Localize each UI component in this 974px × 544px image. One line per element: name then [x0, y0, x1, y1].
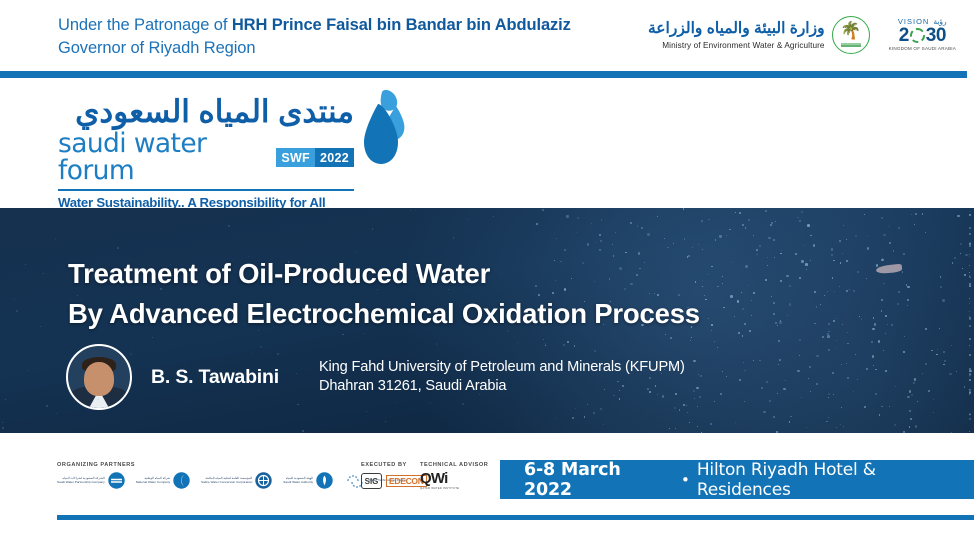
event-date-banner: 6-8 March 2022 • Hilton Riyadh Hotel & R…	[500, 460, 974, 499]
bubble-speck-icon	[624, 288, 626, 290]
bubble-speck-icon	[873, 365, 874, 366]
slide-title-line1: Treatment of Oil-Produced Water	[68, 254, 868, 294]
bubble-speck-icon	[688, 255, 690, 257]
bubble-speck-icon	[872, 355, 875, 358]
bubble-speck-icon	[891, 324, 893, 326]
bubble-speck-icon	[690, 310, 692, 312]
bubble-speck-icon	[705, 299, 707, 301]
bubble-speck-icon	[969, 370, 972, 373]
bubble-speck-icon	[836, 427, 837, 428]
bubble-speck-icon	[701, 220, 703, 222]
bubble-speck-icon	[969, 283, 971, 285]
forum-name-row: saudi water forum SWF 2022	[58, 131, 354, 184]
bubble-speck-icon	[875, 369, 877, 371]
bubble-speck-icon	[925, 232, 926, 233]
bubble-speck-icon	[753, 235, 754, 236]
bubble-speck-icon	[780, 253, 781, 254]
bubble-speck-icon	[969, 376, 970, 377]
bubble-speck-icon	[915, 213, 917, 215]
bubble-speck-icon	[698, 374, 699, 375]
bubble-speck-icon	[466, 398, 467, 399]
author-affiliation: King Fahd University of Petroleum and Mi…	[319, 358, 685, 397]
bubble-speck-icon	[904, 336, 905, 337]
bubble-speck-icon	[601, 219, 603, 221]
bubble-speck-icon	[964, 274, 966, 276]
vision-2030-logo: VISION رؤية 2 30 KINGDOM OF SAUDI ARABIA	[889, 18, 956, 51]
bubble-speck-icon	[16, 310, 18, 312]
sig-logo: SIG	[361, 473, 382, 489]
bubble-speck-icon	[883, 283, 885, 285]
bubble-speck-icon	[683, 208, 685, 210]
bubble-speck-icon	[922, 213, 924, 215]
bubble-speck-icon	[939, 328, 940, 329]
technical-advisor-logo: QWi QATAR WATER INSTITUTE	[420, 471, 459, 490]
bubble-speck-icon	[957, 215, 959, 217]
bubble-speck-icon	[619, 267, 622, 270]
bubble-speck-icon	[657, 216, 658, 217]
bubble-speck-icon	[897, 303, 899, 305]
bubble-speck-icon	[542, 209, 544, 211]
bubble-speck-icon	[689, 422, 690, 423]
bubble-speck-icon	[909, 410, 911, 412]
bubble-speck-icon	[969, 379, 971, 381]
bubble-speck-icon	[696, 387, 698, 389]
header-divider	[0, 71, 967, 78]
bubble-speck-icon	[638, 222, 639, 223]
bubble-speck-icon	[808, 378, 810, 380]
bubble-speck-icon	[827, 335, 830, 338]
bubble-speck-icon	[574, 345, 576, 347]
bubble-speck-icon	[765, 210, 767, 212]
bubble-speck-icon	[571, 278, 572, 279]
bubble-speck-icon	[960, 253, 961, 254]
affiliation-line2: Dhahran 31261, Saudi Arabia	[319, 377, 685, 396]
bubble-speck-icon	[933, 412, 934, 413]
bubble-speck-icon	[186, 401, 187, 402]
bubble-speck-icon	[702, 249, 703, 250]
bubble-speck-icon	[637, 225, 639, 227]
palm-tree-icon: 🌴	[840, 22, 861, 39]
bubble-speck-icon	[969, 374, 971, 376]
bubble-speck-icon	[270, 306, 272, 308]
partner-logo-2: المؤسسة العامة لتحلية المياه المالحة Sal…	[201, 472, 272, 489]
bubble-speck-icon	[810, 391, 811, 392]
bubble-speck-icon	[517, 343, 518, 344]
bubble-speck-icon	[377, 289, 378, 290]
vision-year-left: 2	[899, 26, 909, 45]
bubble-speck-icon	[77, 295, 78, 296]
bubble-speck-icon	[342, 334, 344, 336]
bubble-speck-icon	[667, 247, 669, 249]
bubble-speck-icon	[297, 404, 299, 406]
bubble-speck-icon	[969, 394, 970, 395]
bubble-speck-icon	[828, 397, 829, 398]
bubble-speck-icon	[801, 260, 803, 262]
bubble-speck-icon	[911, 214, 912, 215]
bubble-speck-icon	[43, 273, 44, 274]
partner-logo-0-text: الشركة السعودية لشراكات المياه Saudi Wat…	[57, 477, 105, 485]
bubble-speck-icon	[882, 258, 883, 259]
bubble-speck-icon	[576, 232, 578, 234]
bubble-speck-icon	[871, 341, 873, 343]
bubble-speck-icon	[847, 343, 849, 345]
swf-badge-left: SWF	[276, 148, 315, 167]
bubble-speck-icon	[97, 398, 99, 400]
bubble-speck-icon	[801, 211, 803, 213]
avatar-face	[84, 362, 114, 396]
bubble-speck-icon	[779, 321, 782, 324]
bubble-speck-icon	[767, 265, 768, 266]
bubble-speck-icon	[690, 340, 691, 341]
bubble-speck-icon	[831, 248, 834, 251]
bubble-speck-icon	[895, 386, 896, 387]
bubble-speck-icon	[742, 335, 743, 336]
bubble-speck-icon	[797, 370, 800, 373]
bubble-speck-icon	[723, 307, 725, 309]
bubble-speck-icon	[867, 247, 870, 250]
bubble-speck-icon	[933, 399, 934, 400]
bubble-speck-icon	[911, 394, 913, 396]
bubble-speck-icon	[943, 364, 945, 366]
bubble-speck-icon	[969, 311, 970, 312]
bubble-speck-icon	[875, 393, 877, 395]
bubble-speck-icon	[28, 370, 29, 371]
bubble-speck-icon	[739, 379, 741, 381]
partner-mark-1-icon	[173, 472, 190, 489]
bubble-speck-icon	[459, 382, 460, 383]
bubble-speck-icon	[40, 326, 41, 327]
bubble-speck-icon	[612, 244, 613, 245]
bubble-speck-icon	[641, 227, 643, 229]
bubble-speck-icon	[775, 221, 776, 222]
bubble-speck-icon	[836, 348, 837, 349]
event-venue: Hilton Riyadh Hotel & Residences	[697, 460, 974, 500]
bubble-speck-icon	[600, 240, 602, 242]
bubble-speck-icon	[867, 235, 868, 236]
bubble-speck-icon	[872, 328, 874, 330]
bubble-speck-icon	[841, 407, 842, 408]
bubble-speck-icon	[857, 379, 858, 380]
bubble-speck-icon	[630, 283, 632, 285]
bubble-speck-icon	[833, 394, 834, 395]
bubble-speck-icon	[735, 422, 736, 423]
qwi-logo: QWi	[420, 471, 447, 486]
bubble-speck-icon	[741, 292, 742, 293]
bubble-speck-icon	[669, 428, 670, 429]
bubble-speck-icon	[883, 350, 884, 351]
bubble-speck-icon	[969, 245, 971, 247]
bubble-speck-icon	[910, 418, 912, 420]
bubble-speck-icon	[673, 243, 674, 244]
bubble-speck-icon	[849, 289, 850, 290]
partner-logo-0-english: Saudi Water Partnership Company	[57, 481, 105, 485]
bubble-speck-icon	[744, 370, 746, 372]
bubble-speck-icon	[599, 249, 601, 251]
bubble-speck-icon	[479, 394, 480, 395]
bubble-speck-icon	[881, 299, 883, 301]
bubble-speck-icon	[956, 371, 957, 372]
bubble-speck-icon	[894, 424, 896, 426]
bubble-speck-icon	[610, 301, 611, 302]
bubble-speck-icon	[708, 219, 709, 220]
bubble-speck-icon	[462, 403, 464, 405]
bubble-speck-icon	[885, 315, 887, 317]
bubble-speck-icon	[965, 254, 968, 257]
bubble-speck-icon	[768, 237, 770, 239]
bubble-speck-icon	[735, 212, 737, 214]
bubble-speck-icon	[726, 235, 727, 236]
bubble-speck-icon	[591, 223, 592, 224]
patronage-line2: Governor of Riyadh Region	[58, 39, 255, 57]
bubble-speck-icon	[448, 289, 449, 290]
bubble-speck-icon	[662, 395, 665, 398]
bubble-speck-icon	[913, 382, 915, 384]
bubble-speck-icon	[903, 351, 905, 353]
bubble-speck-icon	[710, 423, 713, 426]
bubble-speck-icon	[753, 292, 755, 294]
bubble-speck-icon	[665, 334, 666, 335]
bubble-speck-icon	[117, 247, 119, 249]
ministry-name-english: Ministry of Environment Water & Agricult…	[648, 41, 825, 50]
bubble-speck-icon	[683, 404, 685, 406]
bubble-speck-icon	[130, 353, 132, 355]
bubble-speck-icon	[745, 227, 746, 228]
bubble-speck-icon	[5, 399, 6, 400]
saudi-water-forum-logo: منتدى المياه السعودي saudi water forum S…	[58, 96, 354, 210]
bubble-speck-icon	[769, 400, 771, 402]
bubble-speck-icon	[786, 275, 788, 277]
bubble-speck-icon	[468, 219, 469, 220]
slide-title: Treatment of Oil-Produced Water By Advan…	[68, 254, 868, 335]
bubble-speck-icon	[888, 226, 889, 227]
bubble-speck-icon	[46, 405, 48, 407]
bubble-speck-icon	[969, 392, 971, 394]
bubble-speck-icon	[864, 214, 865, 215]
bubble-speck-icon	[759, 245, 761, 247]
bubble-speck-icon	[661, 373, 662, 374]
partner-mark-2-icon	[255, 472, 272, 489]
patronage-line1-prefix: Under the Patronage of	[58, 16, 232, 34]
bubble-speck-icon	[599, 234, 601, 236]
partner-logo-2-english: Saline Water Conversion Corporation	[201, 481, 252, 485]
swf-badge-right: 2022	[315, 148, 354, 167]
bubble-speck-icon	[914, 378, 917, 381]
bubble-speck-icon	[691, 337, 692, 338]
bubble-speck-icon	[969, 227, 971, 229]
bubble-speck-icon	[907, 305, 908, 306]
bubble-speck-icon	[873, 317, 875, 319]
bubble-speck-icon	[555, 280, 556, 281]
bubble-speck-icon	[739, 212, 741, 214]
bubble-speck-icon	[556, 238, 557, 239]
bubble-speck-icon	[555, 418, 556, 419]
bubble-speck-icon	[909, 390, 911, 392]
bubble-speck-icon	[698, 244, 700, 246]
bubble-speck-icon	[248, 256, 249, 257]
bubble-speck-icon	[773, 302, 775, 304]
bubble-speck-icon	[577, 217, 579, 219]
bubble-speck-icon	[766, 381, 768, 383]
bubble-speck-icon	[763, 411, 765, 413]
bubble-speck-icon	[692, 247, 693, 248]
vision-year-right: 30	[926, 26, 946, 45]
bubble-speck-icon	[385, 421, 386, 422]
bubble-speck-icon	[799, 339, 801, 341]
bubble-speck-icon	[931, 350, 933, 352]
bubble-speck-icon	[774, 257, 775, 258]
bubble-speck-icon	[647, 388, 649, 390]
bubble-speck-icon	[943, 351, 945, 353]
bubble-speck-icon	[2, 427, 4, 429]
partner-mark-3-icon	[316, 472, 333, 489]
partner-logo-2-text: المؤسسة العامة لتحلية المياه المالحة Sal…	[201, 477, 252, 485]
bubble-speck-icon	[853, 290, 855, 292]
bubble-speck-icon	[355, 252, 356, 253]
bubble-speck-icon	[704, 295, 705, 296]
bubble-speck-icon	[773, 239, 775, 241]
organizing-partners-label: ORGANIZING PARTNERS	[57, 462, 135, 468]
bubble-speck-icon	[925, 328, 926, 329]
bubble-speck-icon	[787, 315, 788, 316]
bubble-speck-icon	[887, 324, 889, 326]
bubble-speck-icon	[450, 365, 451, 366]
bubble-speck-icon	[644, 262, 645, 263]
bubble-speck-icon	[714, 341, 715, 342]
bubble-speck-icon	[714, 401, 715, 402]
bubble-speck-icon	[730, 295, 733, 298]
bubble-speck-icon	[697, 426, 698, 427]
bubble-speck-icon	[843, 426, 844, 427]
forum-logo-band: منتدى المياه السعودي saudi water forum S…	[0, 78, 974, 208]
bubble-speck-icon	[944, 360, 946, 362]
partner-logo-3-english: Saudi Water Authority	[283, 481, 313, 485]
partner-mark-0-icon	[108, 472, 125, 489]
bubble-speck-icon	[889, 406, 890, 407]
bubble-speck-icon	[824, 295, 825, 296]
bubble-speck-icon	[915, 425, 917, 427]
bubble-speck-icon	[594, 281, 595, 282]
bubble-speck-icon	[759, 360, 760, 361]
bubble-speck-icon	[861, 318, 862, 319]
bubble-speck-icon	[638, 252, 640, 254]
bubble-speck-icon	[799, 355, 800, 356]
bubble-speck-icon	[881, 406, 883, 408]
bubble-speck-icon	[717, 347, 718, 348]
bubble-speck-icon	[889, 242, 891, 244]
bubble-speck-icon	[881, 217, 883, 219]
bubble-speck-icon	[922, 373, 923, 374]
presentation-slide: Under the Patronage of HRH Prince Faisal…	[0, 0, 974, 544]
bubble-speck-icon	[885, 370, 887, 372]
bubble-speck-icon	[969, 214, 970, 215]
bubble-speck-icon	[672, 364, 674, 366]
bubble-speck-icon	[702, 286, 703, 287]
bubble-speck-icon	[820, 304, 821, 305]
bubble-speck-icon	[694, 398, 695, 399]
bubble-speck-icon	[744, 323, 746, 325]
bubble-speck-icon	[773, 313, 775, 315]
bubble-speck-icon	[536, 223, 538, 225]
bubble-speck-icon	[372, 228, 373, 229]
bubble-speck-icon	[526, 323, 528, 325]
executed-by-logos: SIG EDECON	[361, 473, 427, 489]
bubble-speck-icon	[756, 254, 757, 255]
bubble-speck-icon	[749, 330, 751, 332]
bubble-speck-icon	[855, 354, 856, 355]
bubble-speck-icon	[260, 346, 262, 348]
bubble-speck-icon	[436, 343, 438, 345]
bubble-speck-icon	[879, 414, 881, 416]
bubble-speck-icon	[227, 309, 228, 310]
bubble-speck-icon	[883, 234, 885, 236]
bubble-speck-icon	[228, 225, 230, 227]
forum-name-arabic: منتدى المياه السعودي	[58, 96, 354, 127]
bubble-speck-icon	[969, 345, 970, 346]
bubble-speck-icon	[898, 227, 900, 229]
bubble-speck-icon	[717, 286, 718, 287]
bubble-speck-icon	[874, 323, 877, 326]
bubble-speck-icon	[843, 225, 844, 226]
bubble-speck-icon	[853, 391, 854, 392]
bubble-speck-icon	[969, 317, 971, 319]
bubble-speck-icon	[969, 211, 970, 212]
bubble-speck-icon	[833, 320, 835, 322]
bubble-speck-icon	[742, 224, 744, 226]
bubble-speck-icon	[949, 373, 952, 376]
bubble-speck-icon	[729, 229, 731, 231]
bubble-speck-icon	[655, 385, 656, 386]
bubble-speck-icon	[678, 294, 680, 296]
organizing-partners-logos: الشركة السعودية لشراكات المياه Saudi Wat…	[57, 472, 407, 489]
bubble-speck-icon	[809, 366, 811, 368]
bubble-speck-icon	[324, 265, 325, 266]
bubble-speck-icon	[942, 299, 945, 302]
crossed-swords-icon	[840, 42, 862, 48]
bubble-speck-icon	[969, 276, 971, 278]
bubble-speck-icon	[684, 238, 686, 240]
bubble-speck-icon	[828, 417, 829, 418]
bubble-speck-icon	[859, 316, 860, 317]
partner-logo-1: شركة المياه الوطنية National Water Compa…	[136, 472, 190, 489]
bubble-speck-icon	[969, 233, 971, 235]
bubble-speck-icon	[699, 396, 701, 398]
hero-banner: Treatment of Oil-Produced Water By Advan…	[0, 208, 974, 433]
saudi-emblem-palm-swords-icon: 🌴	[832, 16, 870, 54]
ministry-name-arabic: وزارة البيئة والمياه والزراعة	[648, 20, 825, 37]
bubble-speck-icon	[847, 377, 849, 379]
bubble-speck-icon	[864, 406, 866, 408]
bubble-speck-icon	[584, 416, 585, 417]
bubble-speck-icon	[969, 325, 971, 327]
bubble-speck-icon	[952, 262, 954, 264]
bubble-speck-icon	[826, 421, 827, 422]
bubble-speck-icon	[893, 250, 895, 252]
bubble-speck-icon	[822, 336, 824, 338]
bubble-speck-icon	[630, 222, 632, 224]
bubble-speck-icon	[804, 245, 806, 247]
bubble-speck-icon	[726, 376, 728, 378]
bubble-speck-icon	[846, 363, 847, 364]
bubble-speck-icon	[686, 405, 687, 406]
bubble-speck-icon	[810, 235, 812, 237]
bubble-speck-icon	[160, 288, 162, 290]
bubble-speck-icon	[807, 224, 810, 227]
bubble-speck-icon	[596, 242, 597, 243]
bubble-speck-icon	[902, 271, 903, 272]
bubble-speck-icon	[876, 264, 879, 267]
bubble-speck-icon	[785, 380, 786, 381]
bubble-speck-icon	[836, 340, 837, 341]
